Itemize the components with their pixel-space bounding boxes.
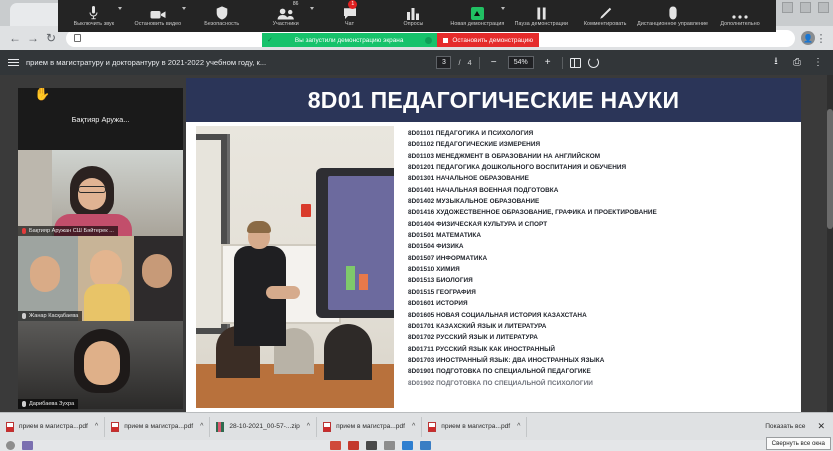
maximize-button[interactable] (800, 2, 811, 13)
share-screen-icon (471, 5, 484, 20)
window-controls (782, 2, 829, 13)
zoom-button-participants[interactable]: 86 Участники (254, 0, 318, 32)
list-item: 8D01703 ИНОСТРАННЫЙ ЯЗЫК: ДВА ИНОСТРАННЫ… (408, 355, 794, 366)
zoom-button-remote-control[interactable]: Дистанционное управление (637, 0, 708, 32)
classroom-photo (196, 126, 394, 408)
page-separator: / (458, 58, 460, 67)
slide-header: 8D01 ПЕДАГОГИЧЕСКИЕ НАУКИ (186, 78, 801, 122)
list-item: 8D01103 МЕНЕДЖМЕНТ В ОБРАЗОВАНИИ НА АНГЛ… (408, 151, 794, 162)
os-taskbar (0, 440, 833, 451)
zoom-button-more[interactable]: Дополнительно (708, 0, 772, 32)
taskbar-app-icon[interactable] (402, 441, 413, 450)
microphone-icon (22, 313, 26, 319)
list-item: 8D01101 ПЕДАГОГИКА И ПСИХОЛОГИЯ (408, 128, 794, 139)
stop-square-icon (443, 38, 448, 43)
hamburger-menu-icon[interactable] (8, 59, 19, 67)
kebab-menu-icon[interactable]: ⋮ (811, 57, 825, 68)
back-arrow-icon[interactable]: ← (6, 29, 24, 47)
chevron-up-icon[interactable] (310, 7, 314, 10)
zoom-button-stop-video-label: Остановить видео (134, 21, 181, 27)
taskbar-app-icon[interactable] (348, 441, 359, 450)
participants-count-badge: 86 (293, 1, 299, 7)
participant-tile[interactable]: Бақтияр Аружан СШ Бәйтерек ... (18, 150, 183, 236)
zip-file-icon (216, 422, 224, 432)
pdf-file-icon (111, 422, 119, 432)
zoom-level-display[interactable]: 54% (508, 56, 534, 69)
polls-bar-chart-icon (406, 5, 420, 20)
lock-icon (74, 34, 81, 42)
download-filename: прием в магистра...pdf (441, 423, 510, 430)
list-item: 8D01902 ПОДГОТОВКА ПО СПЕЦИАЛЬНОЙ ПСИХОЛ… (408, 378, 794, 389)
download-icon[interactable]: ⭳ (769, 54, 783, 71)
page-number-input[interactable]: 3 (436, 56, 451, 69)
list-item: 8D01201 ПЕДАГОГИКА ДОШКОЛЬНОГО ВОСПИТАНИ… (408, 162, 794, 173)
list-item: 8D01504 ФИЗИКА (408, 241, 794, 252)
download-filename: прием в магистра...pdf (19, 423, 88, 430)
chevron-up-icon[interactable]: ^ (517, 423, 520, 430)
list-item: 8D01601 ИСТОРИЯ (408, 298, 794, 309)
screen-root: ← → ↻ 👤 ⋮ Выключить звук Остановить виде… (0, 0, 833, 451)
downloads-bar: прием в магистра...pdf ^ прием в магистр… (0, 412, 833, 440)
pdf-page: 8D01 ПЕДАГОГИЧЕСКИЕ НАУКИ 8D01101 ПЕДАГО… (186, 78, 801, 412)
pdf-file-icon (6, 422, 14, 432)
zoom-button-new-share-label: Новая демонстрация (450, 21, 504, 27)
zoom-button-pause-share[interactable]: Пауза демонстрации (509, 0, 573, 32)
chevron-up-icon[interactable]: ^ (95, 423, 98, 430)
show-all-downloads-button[interactable]: Показать все (765, 423, 805, 430)
zoom-button-stop-video[interactable]: Остановить видео (126, 0, 190, 32)
zoom-button-mute[interactable]: Выключить звук (62, 0, 126, 32)
zoom-button-participants-label: Участники (273, 21, 299, 27)
zoom-button-annotate-label: Комментировать (584, 21, 627, 27)
zoom-button-polls[interactable]: Опросы (382, 0, 446, 32)
toolbar-divider (562, 57, 563, 69)
raised-hand-icon: ✋ (34, 88, 50, 102)
list-item: 8D01416 ХУДОЖЕСТВЕННОЕ ОБРАЗОВАНИЕ, ГРАФ… (408, 207, 794, 218)
pdf-viewer-toolbar: прием в магистратуру и докторантуру в 20… (0, 50, 833, 75)
list-item: 8D01515 ГЕОГРАФИЯ (408, 287, 794, 298)
total-pages-label: 4 (468, 58, 472, 67)
minimize-all-windows-tooltip: Свернуть все окна (766, 437, 831, 450)
zoom-meeting-toolbar: Выключить звук Остановить видео Безопасн… (58, 0, 776, 32)
participant-name-badge: Бақтияр Аружан СШ Бәйтерек ... (18, 226, 118, 236)
taskbar-app-icon[interactable] (420, 441, 431, 450)
share-status-text: Вы запустили демонстрацию экрана (295, 37, 404, 44)
download-filename: прием в магистра...pdf (124, 423, 193, 430)
pdf-file-icon (323, 422, 331, 432)
microphone-icon (89, 5, 98, 20)
zoom-button-remote-control-label: Дистанционное управление (637, 21, 708, 27)
stop-share-button[interactable]: Остановить демонстрацию (437, 33, 539, 47)
zoom-button-chat-label: Чат (345, 21, 354, 27)
participant-tile[interactable]: Дарибаева Зухра Жанар Кожамбердықызы (18, 321, 183, 409)
list-item: 8D01507 ИНФОРМАТИКА (408, 253, 794, 264)
share-status-chip: ✓ Вы запустили демонстрацию экрана (262, 33, 437, 47)
zoom-button-security-label: Безопасность (204, 21, 239, 27)
pdf-file-icon (428, 422, 436, 432)
participant-name-badge: Жанар Касқабаева (18, 311, 82, 321)
chevron-up-icon[interactable]: ^ (412, 423, 415, 430)
toolbar-divider (479, 57, 480, 69)
participant-name: Бақтияр Аружан СШ Бәйтерек ... (29, 228, 114, 234)
zoom-button-security[interactable]: Безопасность (190, 0, 254, 32)
taskbar-app-icon[interactable] (366, 441, 377, 450)
participant-name: Дарибаева Зухра (29, 401, 74, 407)
zoom-button-annotate[interactable]: Комментировать (573, 0, 637, 32)
stop-share-label: Остановить демонстрацию (452, 37, 533, 44)
download-item[interactable]: прием в магистра...pdf ^ (0, 417, 105, 437)
list-item: 8D01102 ПЕДАГОГИЧЕСКИЕ ИЗМЕРЕНИЯ (408, 139, 794, 150)
remote-control-icon (668, 5, 678, 20)
screen-share-status-bar: ✓ Вы запустили демонстрацию экрана Остан… (262, 33, 539, 47)
download-item[interactable]: прием в магистра...pdf ^ (317, 417, 422, 437)
zoom-button-polls-label: Опросы (404, 21, 424, 27)
list-item: 8D01605 НОВАЯ СОЦИАЛЬНАЯ ИСТОРИЯ КАЗАХСТ… (408, 310, 794, 321)
list-item: 8D01402 МУЗЫКАЛЬНОЕ ОБРАЗОВАНИЕ (408, 196, 794, 207)
more-dots-icon (731, 5, 749, 20)
taskbar-app-icon[interactable] (22, 441, 33, 450)
list-item: 8D01501 МАТЕМАТИКА (408, 230, 794, 241)
zoom-button-mute-label: Выключить звук (74, 21, 115, 27)
microphone-muted-icon (22, 228, 26, 234)
list-item: 8D01510 ХИМИЯ (408, 264, 794, 275)
microphone-icon (22, 401, 26, 407)
zoom-in-icon[interactable]: + (541, 57, 555, 68)
start-search-icon[interactable] (6, 441, 15, 450)
profile-avatar-icon[interactable]: 👤 (801, 31, 815, 45)
zoom-button-pause-share-label: Пауза демонстрации (515, 21, 568, 27)
list-item: 8D01702 РУССКИЙ ЯЗЫК И ЛИТЕРАТУРА (408, 332, 794, 343)
rotate-icon[interactable] (588, 57, 599, 68)
fit-to-page-icon[interactable] (570, 58, 581, 68)
pdf-scrollbar[interactable] (827, 75, 833, 412)
participant-video-strip: ✋ Бақтияр Аружа... Бақтияр Аружан СШ Бәй… (18, 88, 183, 409)
taskbar-app-icon[interactable] (330, 441, 341, 450)
zoom-button-chat[interactable]: 1 Чат (318, 0, 382, 32)
active-speaker-label: Бақтияр Аружа... (72, 115, 130, 124)
slide-title: 8D01 ПЕДАГОГИЧЕСКИЕ НАУКИ (308, 87, 680, 114)
pdf-document-title: прием в магистратуру и докторантуру в 20… (26, 58, 266, 67)
close-downloads-bar-button[interactable]: ✕ (817, 421, 825, 432)
pdf-scrollbar-thumb[interactable] (827, 109, 833, 229)
participant-tile[interactable]: Жанар Касқабаева (18, 236, 183, 321)
list-item: 8D01513 БИОЛОГИЯ (408, 275, 794, 286)
pause-icon (536, 5, 547, 20)
pause-share-icon[interactable] (425, 37, 432, 44)
pencil-icon (599, 5, 612, 20)
program-list: 8D01101 ПЕДАГОГИКА И ПСИХОЛОГИЯ 8D01102 … (408, 128, 794, 389)
forward-arrow-icon[interactable]: → (24, 29, 42, 47)
participants-icon (277, 5, 295, 20)
leaf-icon: ✓ (267, 36, 273, 44)
participant-name-badge: Дарибаева Зухра (18, 399, 78, 409)
download-filename: 28-10-2021_00-57-...zip (229, 423, 299, 430)
downloads-bar-actions: Показать все ✕ Свернуть все окна (765, 421, 833, 432)
zoom-out-icon[interactable]: − (487, 57, 501, 68)
camera-icon (150, 5, 166, 20)
chevron-up-icon[interactable] (118, 7, 122, 10)
zoom-button-new-share[interactable]: Новая демонстрация (445, 0, 509, 32)
kebab-menu-icon[interactable]: ⋮ (815, 32, 827, 45)
list-item: 8D01401 НАЧАЛЬНАЯ ВОЕННАЯ ПОДГОТОВКА (408, 185, 794, 196)
chevron-up-icon[interactable]: ^ (307, 423, 310, 430)
participant-name: Жанар Касқабаева (29, 313, 78, 319)
print-icon[interactable]: ⎙ (790, 57, 804, 68)
download-filename: прием в магистра...pdf (336, 423, 405, 430)
shield-icon (216, 5, 228, 20)
download-item[interactable]: 28-10-2021_00-57-...zip ^ (210, 417, 317, 437)
minimize-button[interactable] (782, 2, 793, 13)
active-speaker-tile[interactable]: ✋ Бақтияр Аружа... (18, 88, 183, 150)
list-item: 8D01711 РУССКИЙ ЯЗЫК КАК ИНОСТРАННЫЙ (408, 344, 794, 355)
chevron-up-icon[interactable]: ^ (200, 423, 203, 430)
list-item: 8D01301 НАЧАЛЬНОЕ ОБРАЗОВАНИЕ (408, 173, 794, 184)
download-item[interactable]: прием в магистра...pdf ^ (105, 417, 210, 437)
chevron-up-icon[interactable] (182, 7, 186, 10)
close-window-button[interactable] (818, 2, 829, 13)
list-item: 8D01901 ПОДГОТОВКА ПО СПЕЦИАЛЬНОЙ ПЕДАГО… (408, 366, 794, 377)
chevron-up-icon[interactable] (501, 7, 505, 10)
download-item[interactable]: прием в магистра...pdf ^ (422, 417, 527, 437)
taskbar-app-icon[interactable] (384, 441, 395, 450)
list-item: 8D01404 ФИЗИЧЕСКАЯ КУЛЬТУРА И СПОРТ (408, 219, 794, 230)
zoom-button-more-label: Дополнительно (720, 21, 759, 27)
list-item: 8D01701 КАЗАХСКИЙ ЯЗЫК И ЛИТЕРАТУРА (408, 321, 794, 332)
